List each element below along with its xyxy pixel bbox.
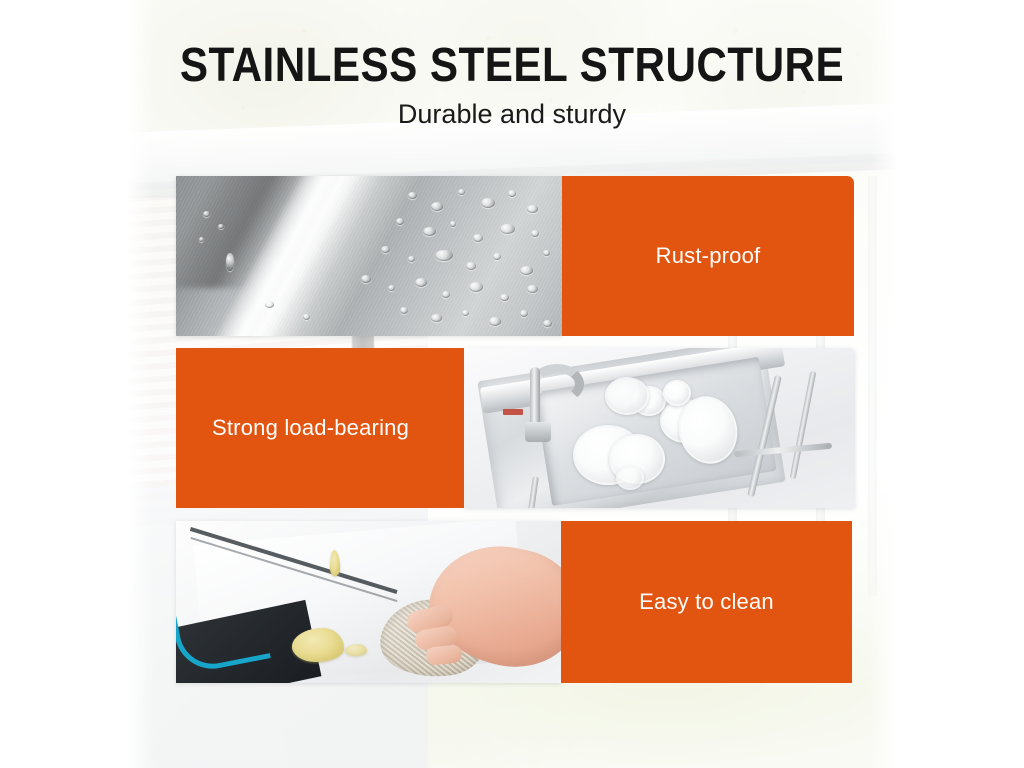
feature-image-strong-load-bearing [464,348,855,508]
feature-label-text: Strong load-bearing [212,415,409,441]
feature-image-rust-proof [176,176,562,336]
faucet-base [525,422,551,442]
faucet-neck [530,367,540,429]
feature-label-text: Easy to clean [639,589,774,615]
spill-stain-streak [345,644,367,656]
feature-image-easy-to-clean [176,521,561,683]
water-droplets [176,176,562,336]
brand-label [503,409,523,415]
feature-label-text: Rust-proof [656,243,761,269]
product-feature-infographic: STAINLESS STEEL STRUCTURE Durable and st… [0,0,1024,768]
page-subtitle: Durable and sturdy [0,99,1024,130]
feature-label-easy-to-clean: Easy to clean [561,521,852,683]
feature-label-rust-proof: Rust-proof [562,176,854,336]
plate-back-left [605,377,649,415]
feature-label-strong-load-bearing: Strong load-bearing [176,348,464,508]
page-title: STAINLESS STEEL STRUCTURE [61,42,962,90]
